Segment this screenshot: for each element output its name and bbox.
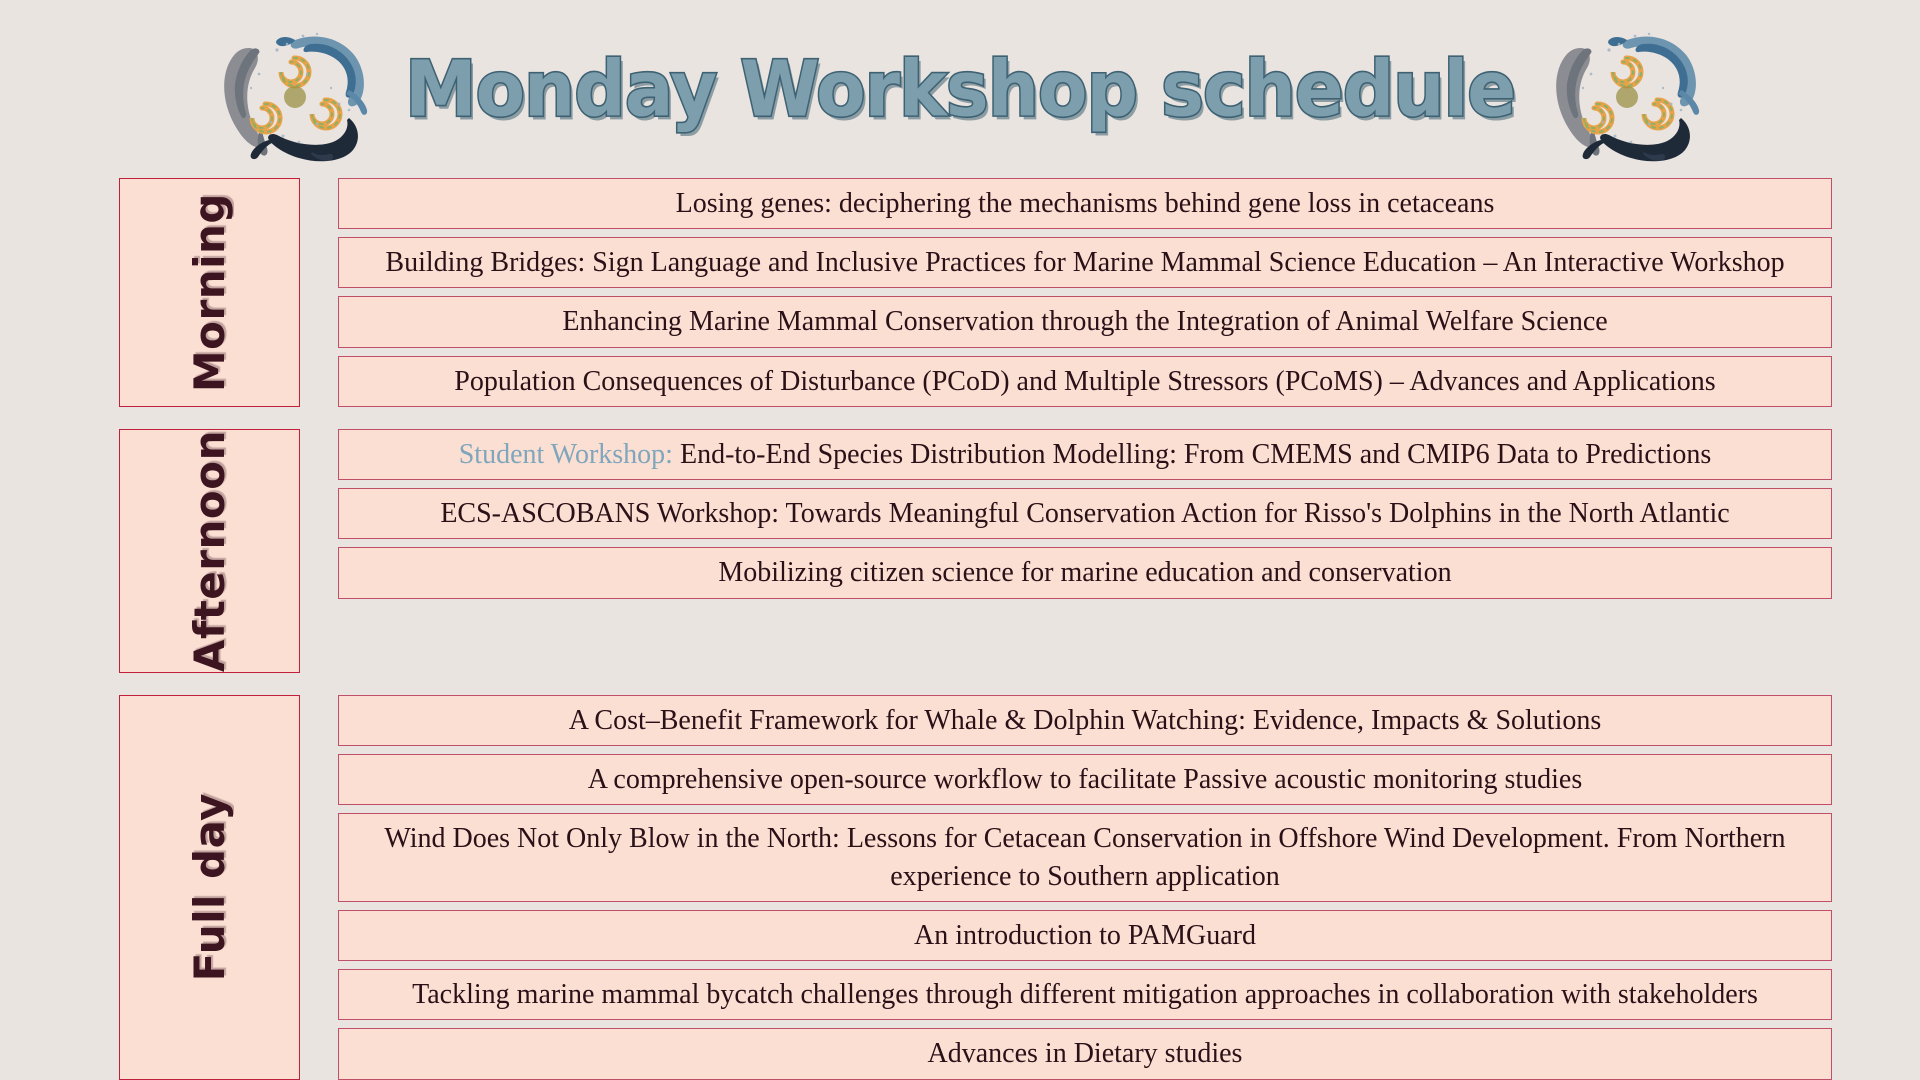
page-header: Monday Workshop schedule: [0, 0, 1920, 178]
session-title-text: Tackling marine mammal bycatch challenge…: [412, 979, 1758, 1010]
session-accent-prefix: Student Workshop:: [459, 439, 673, 470]
session-list: Student Workshop: End-to-End Species Dis…: [338, 429, 1832, 673]
session-row[interactable]: Population Consequences of Disturbance (…: [338, 356, 1832, 407]
session-row[interactable]: Student Workshop: End-to-End Species Dis…: [338, 429, 1832, 480]
session-title-text: End-to-End Species Distribution Modellin…: [680, 439, 1711, 470]
session-title-text: Losing genes: deciphering the mechanisms…: [676, 188, 1495, 219]
session-title-text: Mobilizing citizen science for marine ed…: [718, 557, 1451, 588]
session-title: A Cost–Benefit Framework for Whale & Dol…: [569, 702, 1602, 739]
schedule-section: Full dayA Cost–Benefit Framework for Wha…: [119, 695, 1832, 1080]
session-row[interactable]: ECS-ASCOBANS Workshop: Towards Meaningfu…: [338, 488, 1832, 539]
session-title: Building Bridges: Sign Language and Incl…: [385, 244, 1784, 281]
session-row[interactable]: A Cost–Benefit Framework for Whale & Dol…: [338, 695, 1832, 746]
session-list: A Cost–Benefit Framework for Whale & Dol…: [338, 695, 1832, 1080]
logo-left: [199, 14, 389, 164]
session-row[interactable]: Enhancing Marine Mammal Conservation thr…: [338, 296, 1832, 347]
session-row[interactable]: An introduction to PAMGuard: [338, 910, 1832, 961]
period-label-text: Morning: [185, 193, 234, 392]
dolphin-grey-left: [1556, 48, 1599, 156]
triskelion-spiral-motif: [1584, 58, 1672, 132]
period-label-full-day: Full day: [119, 695, 300, 1080]
period-label-text: Full day: [185, 793, 234, 981]
session-row[interactable]: Losing genes: deciphering the mechanisms…: [338, 178, 1832, 229]
workshop-schedule: MorningLosing genes: deciphering the mec…: [0, 178, 1920, 1080]
session-title: Losing genes: deciphering the mechanisms…: [676, 185, 1495, 222]
schedule-section: AfternoonStudent Workshop: End-to-End Sp…: [119, 429, 1832, 673]
session-title-text: Advances in Dietary studies: [928, 1038, 1243, 1069]
session-title-text: Enhancing Marine Mammal Conservation thr…: [562, 306, 1607, 337]
session-title: ECS-ASCOBANS Workshop: Towards Meaningfu…: [440, 495, 1729, 532]
session-title-text: A Cost–Benefit Framework for Whale & Dol…: [569, 705, 1602, 736]
session-row[interactable]: Mobilizing citizen science for marine ed…: [338, 547, 1832, 598]
session-title: Student Workshop: End-to-End Species Dis…: [459, 436, 1712, 473]
session-title-text: An introduction to PAMGuard: [914, 920, 1256, 951]
session-title-text: Wind Does Not Only Blow in the North: Le…: [384, 823, 1785, 891]
session-title: Mobilizing citizen science for marine ed…: [718, 554, 1451, 591]
session-row[interactable]: Building Bridges: Sign Language and Incl…: [338, 237, 1832, 288]
session-row[interactable]: Tackling marine mammal bycatch challenge…: [338, 969, 1832, 1020]
session-title-text: Building Bridges: Sign Language and Incl…: [385, 247, 1784, 278]
page-title: Monday Workshop schedule: [405, 51, 1515, 127]
session-title: Enhancing Marine Mammal Conservation thr…: [562, 303, 1607, 340]
session-title: An introduction to PAMGuard: [914, 917, 1256, 954]
triskelion-spiral-motif: [252, 58, 340, 132]
dolphin-grey-left: [224, 48, 267, 156]
logo-right: [1531, 14, 1721, 164]
period-label-text: Afternoon: [185, 430, 234, 672]
session-title: Tackling marine mammal bycatch challenge…: [412, 976, 1758, 1013]
period-label-morning: Morning: [119, 178, 300, 407]
session-title: Wind Does Not Only Blow in the North: Le…: [357, 820, 1813, 894]
session-title-text: Population Consequences of Disturbance (…: [454, 366, 1715, 397]
session-row[interactable]: Advances in Dietary studies: [338, 1028, 1832, 1079]
period-label-afternoon: Afternoon: [119, 429, 300, 673]
session-title: Advances in Dietary studies: [928, 1035, 1243, 1072]
session-title: A comprehensive open-source workflow to …: [588, 761, 1583, 798]
session-title-text: A comprehensive open-source workflow to …: [588, 764, 1583, 795]
schedule-section: MorningLosing genes: deciphering the mec…: [119, 178, 1832, 407]
session-row[interactable]: Wind Does Not Only Blow in the North: Le…: [338, 813, 1832, 901]
session-title-text: ECS-ASCOBANS Workshop: Towards Meaningfu…: [440, 498, 1729, 529]
session-row[interactable]: A comprehensive open-source workflow to …: [338, 754, 1832, 805]
session-list: Losing genes: deciphering the mechanisms…: [338, 178, 1832, 407]
session-title: Population Consequences of Disturbance (…: [454, 363, 1715, 400]
